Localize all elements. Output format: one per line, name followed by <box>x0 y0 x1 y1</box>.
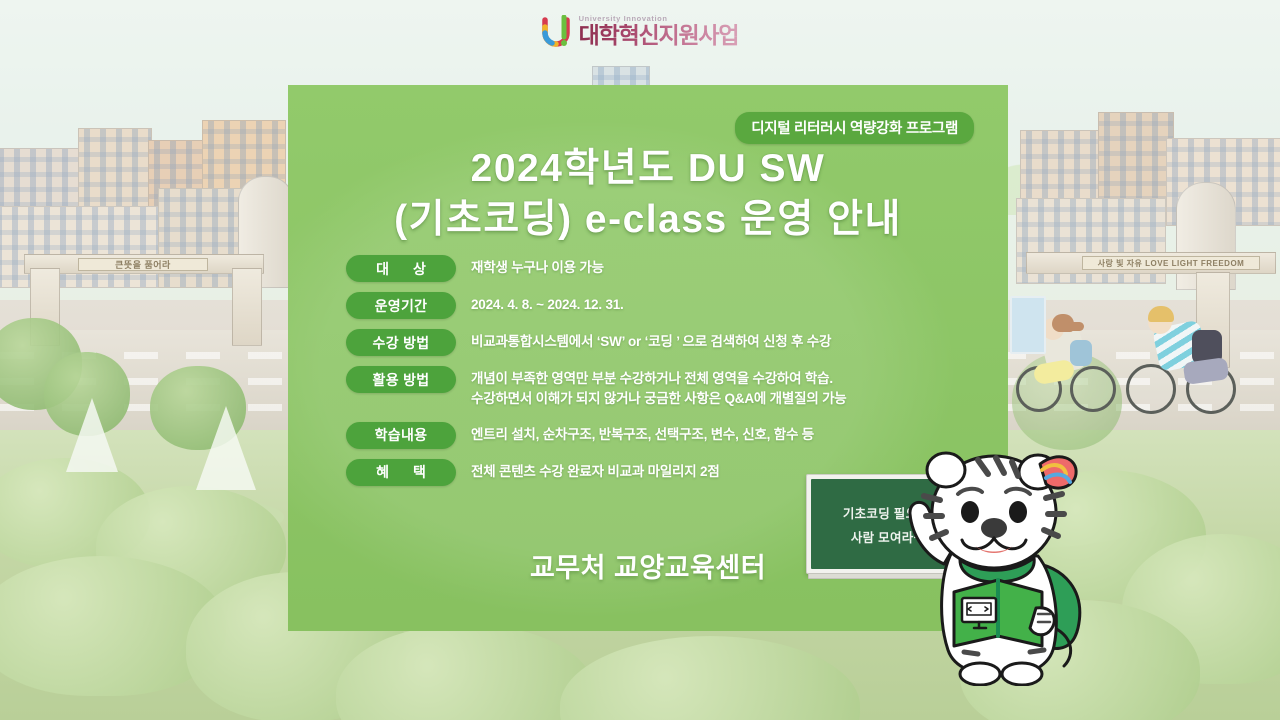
row-value-line-1: 전체 콘텐츠 수강 완료자 비교과 마일리지 2점 <box>471 464 720 479</box>
row-value-line-1: 개념이 부족한 영역만 부분 수강하거나 전체 영역을 수강하여 학습. <box>471 369 966 389</box>
row-label-target: 대 상 <box>346 255 456 282</box>
row-label-usage-method: 활용 방법 <box>346 366 456 393</box>
info-row-enrollment-method: 수강 방법 비교과통합시스템에서 ‘SW’ or ‘코딩 ’ 으로 검색하여 신… <box>346 329 966 356</box>
row-value-line-1: 비교과통합시스템에서 ‘SW’ or ‘코딩 ’ 으로 검색하여 신청 후 수강 <box>471 334 831 349</box>
row-value-usage-method: 개념이 부족한 영역만 부분 수강하거나 전체 영역을 수강하여 학습. 수강하… <box>456 366 966 410</box>
title-line-1: 2024학년도 DU SW <box>288 143 1008 194</box>
poster-title: 2024학년도 DU SW (기초코딩) e-class 운영 안내 <box>288 143 1008 246</box>
row-label-period: 운영기간 <box>346 292 456 319</box>
conifer-tree <box>196 406 256 490</box>
info-row-curriculum: 학습내용 엔트리 설치, 순차구조, 반복구조, 선택구조, 변수, 신호, 함… <box>346 422 966 449</box>
conifer-tree <box>66 398 118 472</box>
row-value-line-1: 엔트리 설치, 순차구조, 반복구조, 선택구조, 변수, 신호, 함수 등 <box>471 427 814 442</box>
gate-sign-right: 사랑 빛 자유 LOVE LIGHT FREEDOM <box>1082 256 1260 270</box>
building <box>0 206 170 288</box>
row-value-target: 재학생 누구나 이용 가능 <box>456 255 966 278</box>
gate-pillar <box>232 268 262 346</box>
row-label-enrollment-method: 수강 방법 <box>346 329 456 356</box>
info-row-usage-method: 활용 방법 개념이 부족한 영역만 부분 수강하거나 전체 영역을 수강하여 학… <box>346 366 966 410</box>
row-value-period: 2024. 4. 8. ~ 2024. 12. 31. <box>456 292 966 315</box>
university-innovation-logo: University Innovation 대학혁신지원사업 <box>0 0 1280 62</box>
info-row-period: 운영기간 2024. 4. 8. ~ 2024. 12. 31. <box>346 292 966 319</box>
tiger-mascot <box>900 440 1116 686</box>
campus-notice-board <box>1010 296 1046 354</box>
u-mark-icon <box>542 15 572 47</box>
row-value-line-1: 2024. 4. 8. ~ 2024. 12. 31. <box>471 297 624 312</box>
row-value-curriculum: 엔트리 설치, 순차구조, 반복구조, 선택구조, 변수, 신호, 함수 등 <box>456 422 966 445</box>
gate-sign-left: 큰뜻을 품어라 <box>78 258 208 271</box>
row-value-enrollment-method: 비교과통합시스템에서 ‘SW’ or ‘코딩 ’ 으로 검색하여 신청 후 수강 <box>456 329 966 352</box>
cyclist-right <box>1126 310 1244 420</box>
title-line-2: (기초코딩) e-class 운영 안내 <box>288 194 1008 245</box>
logo-text: University Innovation 대학혁신지원사업 <box>579 15 739 47</box>
row-value-line-1: 재학생 누구나 이용 가능 <box>471 260 604 275</box>
info-row-target: 대 상 재학생 누구나 이용 가능 <box>346 255 966 282</box>
row-label-benefit: 혜 택 <box>346 459 456 486</box>
info-table: 대 상 재학생 누구나 이용 가능 운영기간 2024. 4. 8. ~ 202… <box>346 255 966 496</box>
program-badge: 디지털 리터러시 역량강화 프로그램 <box>735 112 974 144</box>
row-label-curriculum: 학습내용 <box>346 422 456 449</box>
row-value-line-2: 수강하면서 이해가 되지 않거나 궁금한 사항은 Q&A에 개별질의 가능 <box>471 389 966 409</box>
logo-korean-text: 대학혁신지원사업 <box>579 24 739 47</box>
